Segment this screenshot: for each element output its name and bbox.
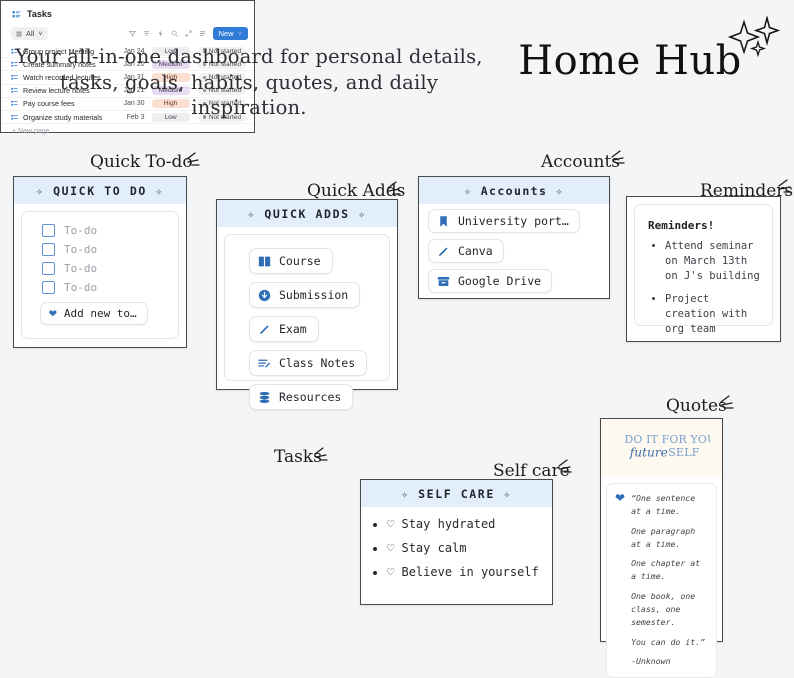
checkbox-icon[interactable] — [42, 224, 55, 237]
heart-icon: ❤ — [49, 307, 57, 320]
quote-line: One chapter at a time. — [631, 557, 709, 584]
reminder-item: Attend seminar on March 13th on J's buil… — [665, 239, 764, 284]
self-care-title: SELF CARE — [418, 487, 495, 501]
quick-todo-body: To-do To-do To-do To-do ❤ Add new to… — [21, 211, 179, 339]
quick-add-label: Class Notes — [279, 356, 355, 370]
account-label: University port… — [458, 214, 569, 228]
heart-outline-icon: ♡ — [387, 541, 394, 555]
page-title: Home Hub — [505, 38, 755, 84]
accounts-card: ✧ Accounts ✧ University port… Canva — [418, 176, 610, 299]
self-care-item: ♡ Believe in yourself — [387, 563, 542, 581]
quote-line: You can do it.” — [631, 636, 709, 649]
notes-pen-icon — [258, 357, 271, 370]
chevron-down-icon: ˅ — [38, 29, 42, 38]
tasks-header: Tasks — [1, 1, 254, 25]
label-quick-todo: Quick To-do — [90, 152, 193, 172]
expand-icon[interactable] — [185, 30, 192, 37]
bookmark-icon — [437, 215, 450, 228]
tasks-view-tab-label: All — [26, 29, 34, 38]
tasks-toolbar: All ˅ — [1, 25, 254, 42]
label-accent-icon — [776, 177, 794, 195]
menu-icon[interactable] — [199, 30, 206, 37]
quick-add-resources-button[interactable]: Resources — [249, 384, 353, 410]
todo-label: To-do — [64, 262, 97, 275]
quick-adds-body: Course Submission Exam Cl — [224, 234, 390, 381]
label-accent-icon — [385, 179, 405, 197]
quick-add-label: Resources — [279, 390, 341, 404]
quote-line: One book, one class, one semester. — [631, 590, 709, 630]
todo-item[interactable]: To-do — [22, 221, 178, 240]
reminders-title: Reminders! — [648, 219, 772, 232]
banner-line2: SELF — [668, 445, 700, 459]
quote-text: “One sentence at a time. One paragraph a… — [631, 492, 709, 668]
quick-adds-card: ✧ QUICK ADDS ✧ Course Submission — [216, 199, 398, 390]
quote-attribution: -Unknown — [631, 655, 709, 668]
archive-box-icon — [437, 275, 450, 288]
new-task-label: New — [219, 29, 234, 38]
accounts-title: Accounts — [481, 184, 548, 198]
reminder-item: Project creation with org team — [665, 292, 764, 337]
pen-icon — [258, 323, 271, 336]
filter-icon[interactable] — [129, 30, 136, 37]
self-care-label: Stay hydrated — [401, 517, 495, 531]
self-care-item: ♡ Stay hydrated — [387, 515, 542, 533]
label-accent-icon — [312, 445, 332, 463]
dashboard-canvas: Your all-in-one dashboard for personal d… — [0, 0, 794, 655]
quotes-card: DO IT FOR YOUR SELF future ❤ “One senten… — [600, 418, 723, 642]
diamond-icon: ✧ — [155, 184, 164, 198]
diamond-icon: ✧ — [464, 184, 472, 198]
account-canva-link[interactable]: Canva — [428, 239, 504, 263]
reminders-card: Reminders! Attend seminar on March 13th … — [626, 196, 781, 342]
list-icon — [12, 10, 21, 19]
quote-banner-art: DO IT FOR YOUR SELF future — [614, 425, 710, 471]
quotes-body: ❤ “One sentence at a time. One paragraph… — [606, 483, 717, 678]
todo-item[interactable]: To-do — [22, 259, 178, 278]
add-new-todo-button[interactable]: ❤ Add new to… — [40, 302, 148, 325]
lightning-icon[interactable] — [157, 30, 164, 37]
list-view-icon — [16, 31, 22, 37]
label-accent-icon — [718, 393, 738, 411]
quick-adds-title: QUICK ADDS — [264, 207, 349, 221]
self-care-header: ✧ SELF CARE ✧ — [361, 480, 552, 507]
book-icon — [258, 255, 271, 268]
account-university-portal-link[interactable]: University port… — [428, 209, 580, 233]
add-new-todo-label: Add new to… — [64, 307, 137, 320]
quick-add-submission-button[interactable]: Submission — [249, 282, 360, 308]
reminders-body: Reminders! Attend seminar on March 13th … — [634, 204, 773, 326]
clock-download-icon — [258, 289, 271, 302]
quick-add-label: Exam — [279, 322, 307, 336]
account-label: Canva — [458, 244, 493, 258]
banner-script: future — [628, 446, 667, 460]
new-task-button[interactable]: New ˅ — [213, 27, 248, 40]
quick-add-exam-button[interactable]: Exam — [249, 316, 319, 342]
todo-label: To-do — [64, 224, 97, 237]
todo-label: To-do — [64, 281, 97, 294]
todo-item[interactable]: To-do — [22, 240, 178, 259]
label-accent-icon — [556, 457, 576, 475]
account-label: Google Drive — [458, 274, 541, 288]
heart-outline-icon: ♡ — [387, 565, 394, 579]
reminders-list: Attend seminar on March 13th on J's buil… — [635, 239, 772, 336]
account-google-drive-link[interactable]: Google Drive — [428, 269, 552, 293]
diamond-icon: ✧ — [358, 207, 367, 221]
quote-line: “One sentence at a time. — [631, 492, 709, 519]
sort-icon[interactable] — [143, 30, 150, 37]
quick-add-label: Submission — [279, 288, 348, 302]
self-care-list: ♡ Stay hydrated ♡ Stay calm ♡ Believe in… — [361, 507, 552, 581]
todo-item[interactable]: To-do — [22, 278, 178, 297]
chevron-down-icon: ˅ — [238, 29, 242, 38]
search-icon[interactable] — [171, 30, 178, 37]
quotes-banner-image: DO IT FOR YOUR SELF future — [601, 419, 722, 477]
checkbox-icon[interactable] — [42, 281, 55, 294]
checkbox-icon[interactable] — [42, 243, 55, 256]
intro-text: Your all-in-one dashboard for personal d… — [14, 44, 484, 121]
accounts-list: University port… Canva Google Drive — [419, 204, 609, 301]
quick-todo-header: ✧ QUICK TO DO ✧ — [14, 177, 186, 204]
checkbox-icon[interactable] — [42, 262, 55, 275]
database-icon — [258, 391, 271, 404]
diamond-icon: ✧ — [556, 184, 564, 198]
tasks-view-tab-all[interactable]: All ˅ — [11, 27, 48, 40]
sparkles-icon — [722, 16, 782, 66]
self-care-card: ✧ SELF CARE ✧ ♡ Stay hydrated ♡ Stay cal… — [360, 479, 553, 605]
new-page-button[interactable]: + New page — [1, 124, 254, 135]
accounts-header: ✧ Accounts ✧ — [419, 177, 609, 204]
quick-add-class-notes-button[interactable]: Class Notes — [249, 350, 367, 376]
diamond-icon: ✧ — [247, 207, 256, 221]
quick-todo-card: ✧ QUICK TO DO ✧ To-do To-do To-do — [13, 176, 187, 348]
banner-line1: DO IT FOR YOUR — [624, 433, 710, 446]
label-accent-icon — [184, 150, 204, 168]
self-care-label: Believe in yourself — [401, 565, 538, 579]
heart-outline-icon: ♡ — [387, 517, 394, 531]
tasks-title: Tasks — [27, 9, 52, 19]
quick-add-label: Course — [279, 254, 321, 268]
quick-add-course-button[interactable]: Course — [249, 248, 333, 274]
self-care-item: ♡ Stay calm — [387, 539, 542, 557]
heart-icon: ❤ — [615, 492, 625, 668]
diamond-icon: ✧ — [401, 487, 410, 501]
quote-line: One paragraph at a time. — [631, 525, 709, 552]
quick-adds-header: ✧ QUICK ADDS ✧ — [217, 200, 397, 227]
tasks-toolbar-icons: New ˅ — [129, 27, 248, 40]
quick-todo-title: QUICK TO DO — [53, 184, 147, 198]
self-care-label: Stay calm — [401, 541, 466, 555]
diamond-icon: ✧ — [36, 184, 45, 198]
todo-label: To-do — [64, 243, 97, 256]
label-accent-icon — [609, 148, 629, 166]
diamond-icon: ✧ — [503, 487, 512, 501]
pen-icon — [437, 245, 450, 258]
